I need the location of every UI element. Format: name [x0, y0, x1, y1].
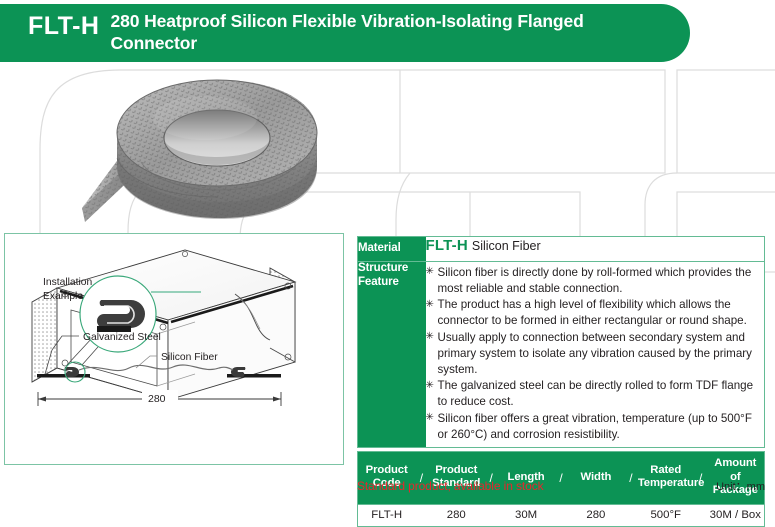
structure-feature-label: Structure Feature [358, 261, 426, 447]
structure-label-line1: Structure [358, 262, 426, 276]
stock-note: Standard product, available in stock [357, 479, 544, 493]
param-cell: 500°F [637, 504, 695, 526]
param-cell-spacer [625, 504, 637, 526]
feature-list: Silicon fiber is directly done by roll-f… [426, 262, 765, 447]
diagram-panel: Installation Example Galvanized Steel [4, 233, 344, 465]
footer-row: Standard product, available in stock Uni… [357, 478, 765, 494]
installation-diagram: Installation Example Galvanized Steel [5, 234, 342, 463]
installation-label-line2: Example [43, 291, 83, 302]
param-cell: FLT-H [358, 504, 416, 526]
header-product-code: FLT-H [28, 10, 99, 42]
material-value-cell: FLT-HSilicon Fiber [426, 237, 765, 262]
feature-item: Silicon fiber is directly done by roll-f… [426, 265, 765, 297]
unit-note: Unit：mm [716, 478, 765, 494]
material-code: FLT-H [426, 237, 468, 254]
material-row: Material FLT-HSilicon Fiber [358, 237, 765, 262]
dimension-value: 280 [148, 393, 166, 405]
feature-item: Silicon fiber offers a great vibration, … [426, 411, 765, 443]
material-structure-table: Material FLT-HSilicon Fiber Structure Fe… [357, 236, 765, 448]
galvanized-steel-label: Galvanized Steel [83, 332, 161, 343]
parameter-body: FLT-H28030M280500°F30M / Box [358, 504, 765, 526]
param-cell-spacer [695, 504, 707, 526]
page-title: 280 Heatproof Silicon Flexible Vibration… [110, 10, 655, 54]
param-cell: 280 [427, 504, 485, 526]
header-banner: FLT-H 280 Heatproof Silicon Flexible Vib… [0, 4, 690, 62]
param-cell: 30M / Box [707, 504, 765, 526]
param-cell: 280 [567, 504, 625, 526]
feature-item: The product has a high level of flexibil… [426, 297, 765, 329]
product-photo-coiled-fiber-roll [55, 58, 355, 238]
installation-label-line1: Installation [43, 277, 93, 288]
material-text: Silicon Fiber [472, 239, 541, 253]
silicon-fiber-label: Silicon Fiber [161, 352, 218, 363]
table-row: FLT-H28030M280500°F30M / Box [358, 504, 765, 526]
feature-item: Usually apply to connection between seco… [426, 330, 765, 378]
material-label: Material [358, 237, 426, 262]
structure-label-line2: Feature [358, 276, 426, 290]
structure-feature-cell: Silicon fiber is directly done by roll-f… [426, 261, 765, 447]
param-cell-spacer [485, 504, 497, 526]
structure-row: Structure Feature Silicon fiber is direc… [358, 261, 765, 447]
param-cell-spacer [555, 504, 567, 526]
feature-item: The galvanized steel can be directly rol… [426, 378, 765, 410]
param-cell: 30M [497, 504, 555, 526]
param-cell-spacer [415, 504, 427, 526]
